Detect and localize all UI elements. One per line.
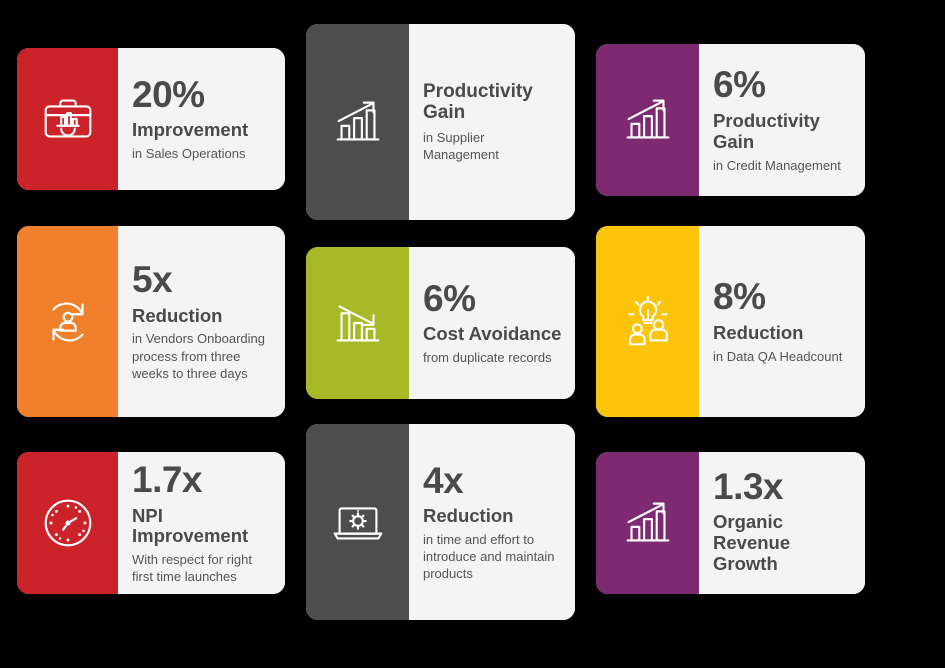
lightbulb-people-icon bbox=[617, 291, 679, 353]
card-body: 6% Productivity Gain in Credit Managemen… bbox=[699, 44, 865, 196]
card-accent-panel bbox=[17, 48, 118, 190]
card-subtext: in Vendors Onboarding process from three… bbox=[132, 330, 273, 381]
card-stat-value: 5x bbox=[132, 261, 273, 299]
card-subtext: from duplicate records bbox=[423, 349, 563, 366]
card-accent-panel bbox=[596, 44, 699, 196]
card-headline: Reduction bbox=[713, 323, 853, 344]
bar-chart-up-arrow-icon bbox=[327, 91, 389, 153]
card-body: 5x Reduction in Vendors Onboarding proce… bbox=[118, 226, 285, 417]
card-accent-panel bbox=[306, 24, 409, 220]
card-headline: Cost Avoidance bbox=[423, 324, 563, 345]
infographic-board: 20% Improvement in Sales Operations Prod… bbox=[0, 0, 945, 668]
card-headline: Reduction bbox=[423, 506, 563, 527]
card-stat-value: 6% bbox=[423, 280, 563, 318]
card-headline: Productivity Gain bbox=[423, 81, 563, 124]
card-body: 20% Improvement in Sales Operations bbox=[118, 48, 285, 190]
metric-card-data-qa-headcount: 8% Reduction in Data QA Headcount bbox=[596, 226, 865, 417]
card-subtext: in Supplier Management bbox=[423, 129, 563, 163]
card-body: 4x Reduction in time and effort to intro… bbox=[409, 424, 575, 620]
card-accent-panel bbox=[17, 452, 118, 594]
card-headline: Organic Revenue Growth bbox=[713, 512, 853, 574]
card-subtext: in time and effort to introduce and main… bbox=[423, 531, 563, 582]
card-stat-value: 1.3x bbox=[713, 468, 853, 506]
bar-chart-up-arrow-icon bbox=[617, 492, 679, 554]
card-headline: NPI Improvement bbox=[132, 506, 273, 547]
card-subtext: in Credit Management bbox=[713, 157, 853, 174]
card-headline: Reduction bbox=[132, 306, 273, 327]
bar-chart-down-arrow-icon bbox=[327, 292, 389, 354]
card-body: 1.7x NPI Improvement With respect for ri… bbox=[118, 452, 285, 594]
card-headline: Improvement bbox=[132, 120, 273, 141]
metric-card-cost-avoidance: 6% Cost Avoidance from duplicate records bbox=[306, 247, 575, 399]
card-accent-panel bbox=[596, 226, 699, 417]
card-body: Productivity Gain in Supplier Management bbox=[409, 24, 575, 220]
refresh-user-icon bbox=[37, 291, 99, 353]
metric-card-organic-revenue-growth: 1.3x Organic Revenue Growth bbox=[596, 452, 865, 594]
card-accent-panel bbox=[17, 226, 118, 417]
metric-card-sales-operations: 20% Improvement in Sales Operations bbox=[17, 48, 285, 190]
card-subtext: With respect for right first time launch… bbox=[132, 551, 273, 585]
card-accent-panel bbox=[306, 424, 409, 620]
laptop-gear-icon bbox=[327, 491, 389, 553]
card-stat-value: 8% bbox=[713, 278, 853, 316]
metric-card-product-introduction: 4x Reduction in time and effort to intro… bbox=[306, 424, 575, 620]
card-subtext: in Data QA Headcount bbox=[713, 348, 853, 365]
metric-card-npi-improvement: 1.7x NPI Improvement With respect for ri… bbox=[17, 452, 285, 594]
card-subtext: in Sales Operations bbox=[132, 145, 273, 162]
card-stat-value: 1.7x bbox=[132, 461, 273, 499]
briefcase-chart-icon bbox=[37, 88, 99, 150]
card-body: 1.3x Organic Revenue Growth bbox=[699, 452, 865, 594]
card-stat-value: 6% bbox=[713, 66, 853, 104]
card-headline: Productivity Gain bbox=[713, 111, 853, 152]
card-accent-panel bbox=[306, 247, 409, 399]
card-body: 8% Reduction in Data QA Headcount bbox=[699, 226, 865, 417]
card-stat-value: 4x bbox=[423, 462, 563, 500]
bar-chart-up-arrow-icon bbox=[617, 89, 679, 151]
metric-card-vendor-onboarding: 5x Reduction in Vendors Onboarding proce… bbox=[17, 226, 285, 417]
card-stat-value: 20% bbox=[132, 76, 273, 114]
clock-icon bbox=[37, 492, 99, 554]
card-body: 6% Cost Avoidance from duplicate records bbox=[409, 247, 575, 399]
card-accent-panel bbox=[596, 452, 699, 594]
metric-card-credit-management: 6% Productivity Gain in Credit Managemen… bbox=[596, 44, 865, 196]
metric-card-supplier-management: Productivity Gain in Supplier Management bbox=[306, 24, 575, 220]
